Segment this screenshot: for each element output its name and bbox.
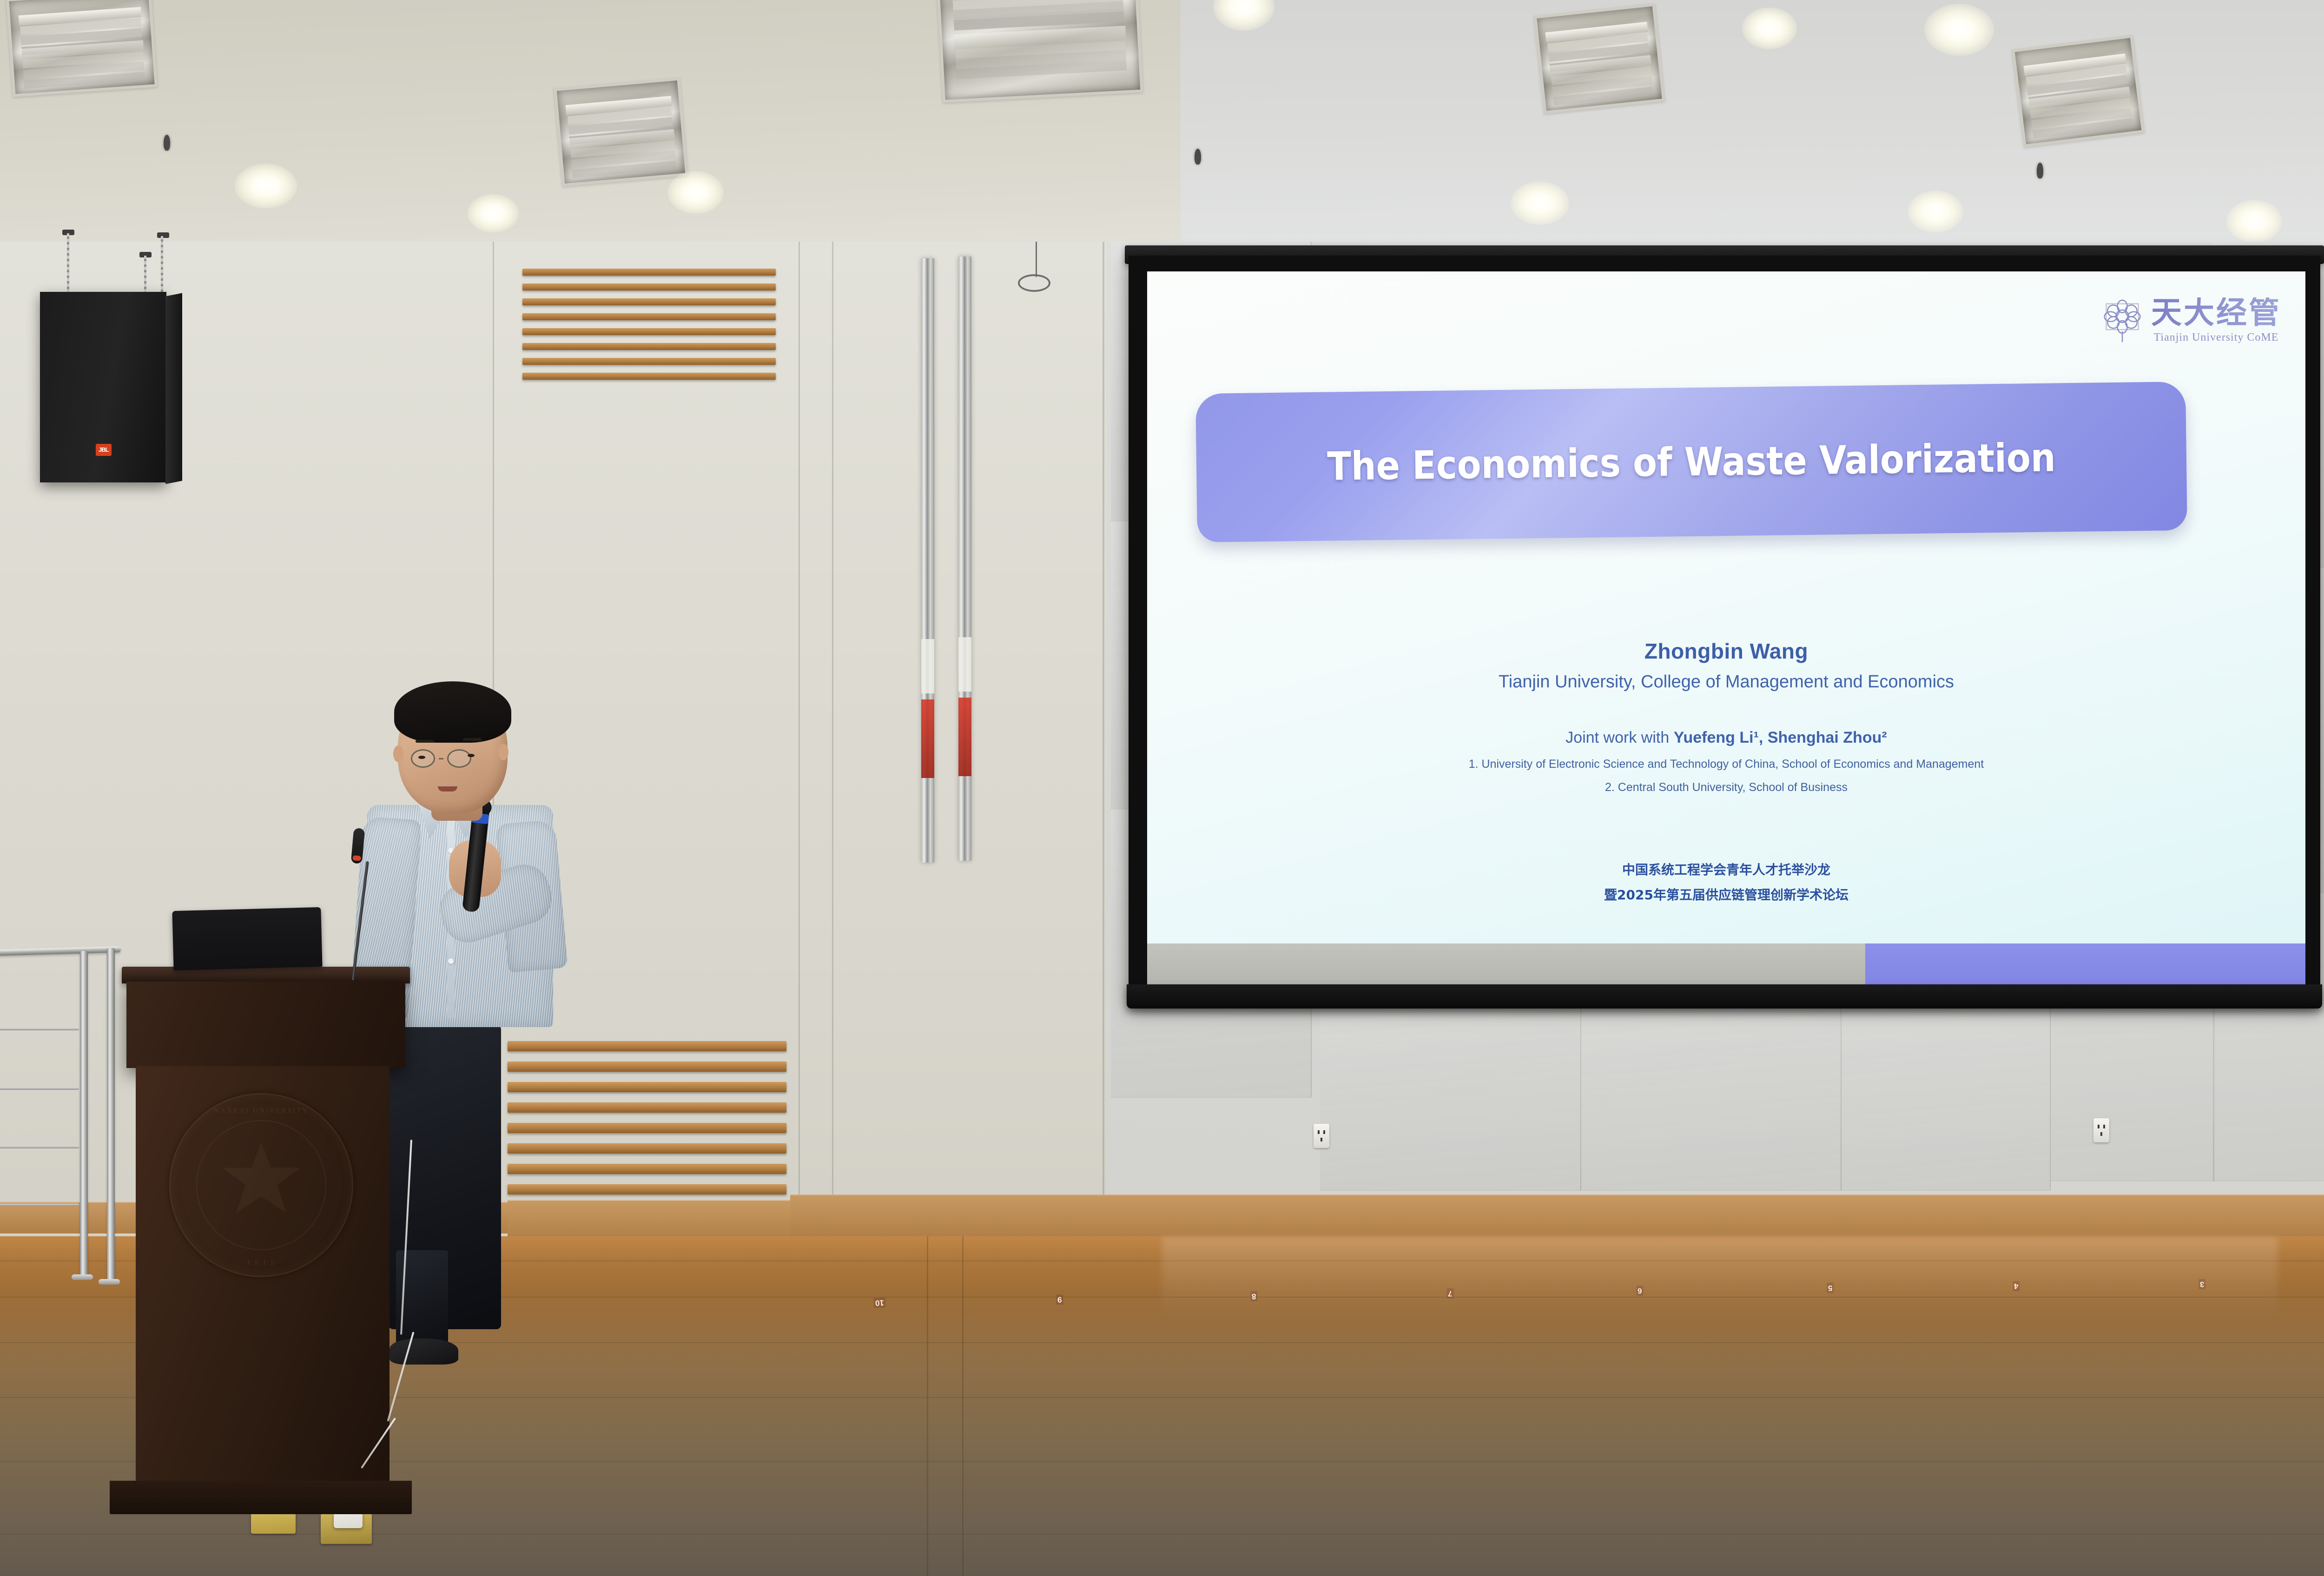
- downlight-9: [1742, 7, 1797, 49]
- ceiling-ac-unit: [935, 0, 1143, 103]
- floor-reflection-screen: [1162, 1237, 2278, 1321]
- slide-event-line-2: 暨2025年第五届供应链管理创新学术论坛: [1147, 885, 2305, 903]
- presenter-eyebrow-right: [463, 738, 482, 741]
- eyeglass-lens-right: [447, 749, 471, 768]
- stage-railing-wire: [0, 1088, 79, 1090]
- steel-mirror-strip-right: [958, 257, 971, 861]
- ceiling-hook-3: [2037, 163, 2043, 178]
- slide-title: The Economics of Waste Valorization: [1327, 435, 2056, 489]
- floor-seam: [927, 1236, 928, 1576]
- podium-body: [126, 982, 405, 1068]
- jbl-ceiling-speaker: JBL: [40, 292, 166, 482]
- steel-mirror-strip-left: [921, 258, 934, 863]
- presenter-mouth: [438, 786, 457, 791]
- wall-seam: [799, 242, 800, 1255]
- baseboard-right: [790, 1194, 2324, 1237]
- lecture-hall-photo: JBL: [0, 0, 2324, 1576]
- speaker-chain: [144, 256, 146, 297]
- stage-railing-foot: [72, 1274, 93, 1280]
- seal-bottom-text: 1 9 1 9: [171, 1259, 352, 1267]
- ceiling-vent-4: [2012, 35, 2145, 147]
- slide-affiliation: Tianjin University, College of Managemen…: [1147, 672, 2305, 692]
- joint-authors: Yuefeng Li¹, Shenghai Zhou²: [1674, 729, 1887, 746]
- wall-cable: [1036, 242, 1037, 277]
- stage-railing-wire: [0, 1204, 79, 1206]
- presenter-ear-left: [393, 745, 403, 762]
- slide-footnote-1: 1. University of Electronic Science and …: [1147, 758, 2305, 771]
- ceiling-hook-1: [164, 135, 170, 151]
- speaker-chain: [161, 236, 163, 295]
- wall-power-outlet-right[interactable]: [2093, 1118, 2109, 1142]
- wall-panel: [1580, 985, 1842, 1191]
- ceiling-vent-1: [6, 0, 158, 97]
- podium-top-surface: [122, 967, 410, 983]
- seal-top-text: NANKAI UNIVERSITY: [171, 1107, 352, 1115]
- jbl-logo: JBL: [96, 444, 112, 456]
- ceiling-vent-2: [554, 78, 688, 187]
- downlight-6: [1908, 191, 1963, 232]
- logo-english-text: Tianjin University CoME: [2154, 331, 2279, 344]
- presenter-hair: [394, 681, 511, 743]
- presenter-eyebrow-left: [416, 740, 434, 743]
- desktop-taskbar-left: [1147, 943, 1865, 984]
- presenter-eye-right: [468, 754, 475, 757]
- nankai-university-seal: NANKAI UNIVERSITY 1 9 1 9: [169, 1093, 353, 1277]
- downlight-5: [1924, 4, 1994, 56]
- desktop-taskbar-right: [1865, 943, 2305, 984]
- projector-screen-bottom-bar: [1127, 984, 2322, 1009]
- wall-panel: [1320, 985, 1581, 1191]
- presenter-eye-left: [418, 756, 425, 759]
- presenter-laptop[interactable]: [172, 907, 322, 970]
- downlight-8: [468, 194, 519, 232]
- wall-cable-ring: [1018, 274, 1050, 292]
- wall-slat-panel-lower: [508, 1041, 786, 1194]
- baseboard-slat-section: [508, 1200, 796, 1240]
- slide-author: Zhongbin Wang: [1147, 639, 2305, 664]
- logo-chinese-text: 天大经管: [2151, 297, 2281, 328]
- wall-power-outlet-center[interactable]: [1314, 1124, 1329, 1148]
- stage-railing-post: [107, 948, 115, 1281]
- stage-railing-wire: [0, 1028, 79, 1030]
- floor-seam: [962, 1236, 964, 1576]
- floor-marker: 9: [1056, 1294, 1063, 1305]
- speaker-chain: [67, 233, 69, 294]
- wall-seam: [832, 242, 833, 1255]
- presenter-shirt-button: [448, 958, 454, 964]
- downlight-2: [668, 171, 724, 214]
- university-logo: 天大经管 Tianjin University CoME: [2100, 296, 2281, 346]
- joint-prefix: Joint work with: [1565, 729, 1673, 746]
- slide-event-line-1: 中国系统工程学会青年人才托举沙龙: [1147, 860, 2305, 878]
- downlight-7: [2226, 200, 2282, 243]
- slide-footnote-2: 2. Central South University, School of B…: [1147, 781, 2305, 794]
- wall-panel: [1841, 985, 2051, 1191]
- stage-railing-foot: [99, 1279, 120, 1285]
- floor-marker: 10: [874, 1298, 886, 1308]
- slide-title-band: The Economics of Waste Valorization: [1195, 382, 2187, 542]
- slide-joint-work: Joint work with Yuefeng Li¹, Shenghai Zh…: [1147, 729, 2305, 747]
- ceiling-vent-3: [1534, 3, 1665, 114]
- speaker-chain-anchor: [157, 232, 169, 238]
- wall-slat-panel-upper: [522, 269, 776, 389]
- wall-seam: [1103, 242, 1104, 1255]
- downlight-1: [235, 164, 297, 208]
- stage-railing-post: [80, 951, 88, 1276]
- tianjin-university-emblem-icon: [2100, 296, 2145, 346]
- eyeglass-bridge: [439, 758, 443, 759]
- ceiling-hook-2: [1195, 149, 1201, 165]
- presenter-shoe: [390, 1339, 458, 1365]
- stage-railing-wire: [0, 1146, 79, 1148]
- presenter-ear-right: [498, 744, 508, 760]
- downlight-4: [1511, 181, 1569, 225]
- presentation-slide: 天大经管 Tianjin University CoME The Economi…: [1147, 271, 2305, 984]
- podium-base: [110, 1481, 412, 1514]
